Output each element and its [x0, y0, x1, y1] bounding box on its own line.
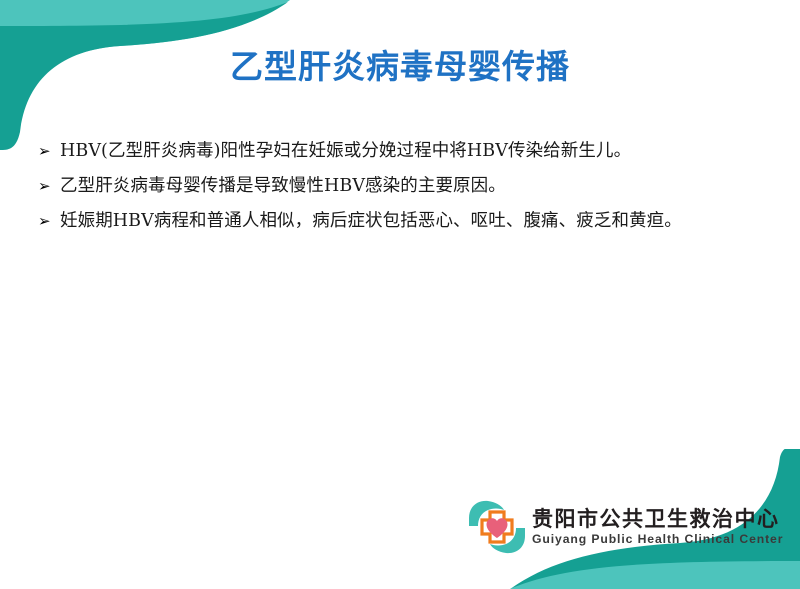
list-item: ➢ 妊娠期HBV病程和普通人相似，病后症状包括恶心、呕吐、腹痛、疲乏和黄疸。	[34, 206, 774, 236]
organization-logo: 贵阳市公共卫生救治中心 Guiyang Public Health Clinic…	[466, 498, 783, 556]
hospital-logo-icon	[466, 498, 528, 556]
logo-text-block: 贵阳市公共卫生救治中心 Guiyang Public Health Clinic…	[532, 508, 783, 547]
list-item-text: 乙型肝炎病毒母婴传播是导致慢性HBV感染的主要原因。	[60, 171, 774, 201]
list-item: ➢ 乙型肝炎病毒母婴传播是导致慢性HBV感染的主要原因。	[34, 171, 774, 201]
list-item-text: 妊娠期HBV病程和普通人相似，病后症状包括恶心、呕吐、腹痛、疲乏和黄疸。	[60, 206, 774, 236]
arrow-bullet-icon: ➢	[34, 206, 60, 236]
arrow-bullet-icon: ➢	[34, 171, 60, 201]
bullet-list: ➢ HBV(乙型肝炎病毒)阳性孕妇在妊娠或分娩过程中将HBV传染给新生儿。 ➢ …	[34, 136, 774, 241]
slide: 乙型肝炎病毒母婴传播 ➢ HBV(乙型肝炎病毒)阳性孕妇在妊娠或分娩过程中将HB…	[0, 0, 800, 589]
list-item: ➢ HBV(乙型肝炎病毒)阳性孕妇在妊娠或分娩过程中将HBV传染给新生儿。	[34, 136, 774, 166]
list-item-text: HBV(乙型肝炎病毒)阳性孕妇在妊娠或分娩过程中将HBV传染给新生儿。	[60, 136, 774, 166]
organization-name-en: Guiyang Public Health Clinical Center	[532, 532, 783, 547]
slide-title-container: 乙型肝炎病毒母婴传播	[0, 46, 800, 87]
slide-title: 乙型肝炎病毒母婴传播	[230, 46, 570, 87]
organization-name-cn: 贵阳市公共卫生救治中心	[532, 508, 783, 530]
arrow-bullet-icon: ➢	[34, 136, 60, 166]
